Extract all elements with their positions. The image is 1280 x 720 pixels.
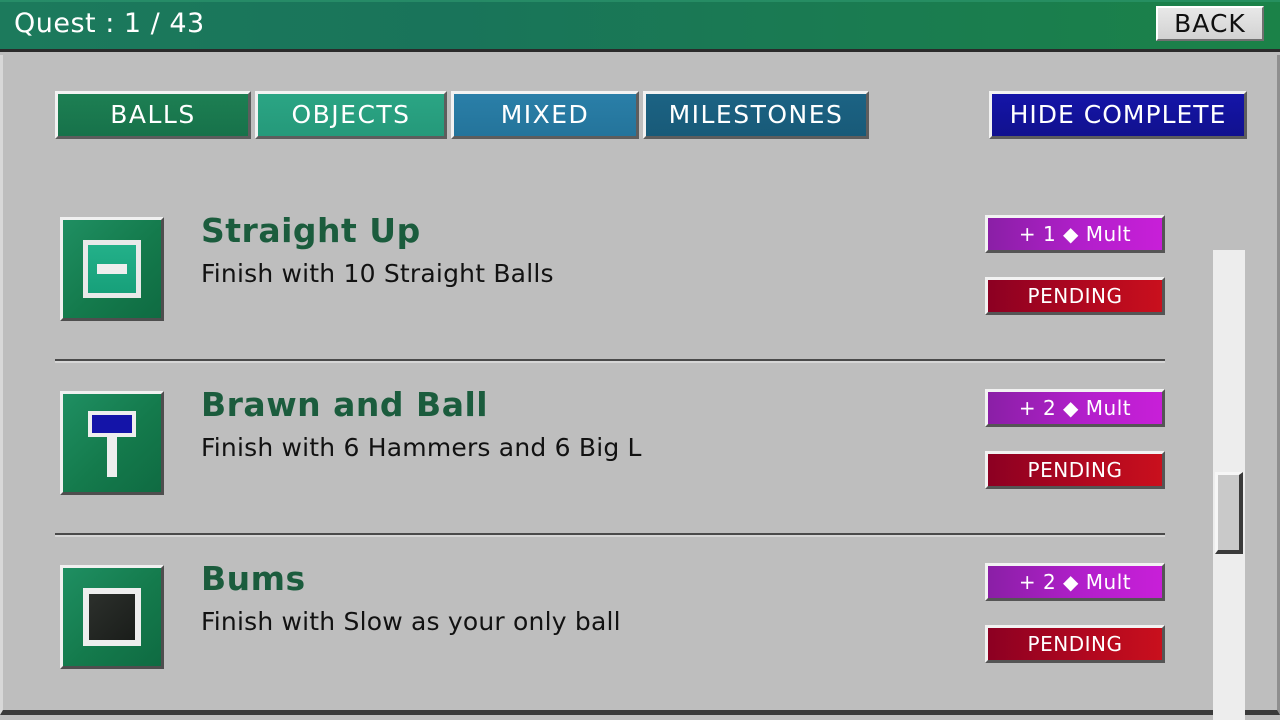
- reward-badge[interactable]: + 2 ◆ Mult: [985, 389, 1165, 427]
- category-tabs: BALLS OBJECTS MIXED MILESTONES: [55, 91, 869, 139]
- quest-icon-tile: [60, 391, 164, 495]
- status-badge[interactable]: PENDING: [985, 451, 1165, 489]
- quest-row[interactable]: Straight Up Finish with 10 Straight Ball…: [3, 185, 1203, 359]
- tab-milestones[interactable]: MILESTONES: [643, 91, 869, 139]
- hammer-icon: [82, 409, 142, 477]
- quest-list: Straight Up Finish with 10 Straight Ball…: [3, 185, 1203, 710]
- scrollbar-thumb[interactable]: [1215, 472, 1243, 554]
- quest-icon-tile: [60, 565, 164, 669]
- quest-row[interactable]: Brawn and Ball Finish with 6 Hammers and…: [3, 359, 1203, 533]
- scrollbar-track[interactable]: [1213, 250, 1245, 720]
- quest-screen: Quest : 1 / 43 BACK BALLS OBJECTS MIXED …: [0, 0, 1280, 720]
- quest-icon-tile: [60, 217, 164, 321]
- slow-ball-icon: [83, 588, 141, 646]
- header-bar: Quest : 1 / 43 BACK: [0, 0, 1280, 52]
- tab-balls[interactable]: BALLS: [55, 91, 251, 139]
- reward-badge[interactable]: + 2 ◆ Mult: [985, 563, 1165, 601]
- quest-title: Brawn and Ball: [201, 385, 961, 425]
- quest-title: Bums: [201, 559, 961, 599]
- quest-description: Finish with Slow as your only ball: [201, 607, 961, 637]
- quest-row[interactable]: Bums Finish with Slow as your only ball …: [3, 533, 1203, 707]
- content-panel: BALLS OBJECTS MIXED MILESTONES HIDE COMP…: [0, 55, 1280, 715]
- quest-description: Finish with 10 Straight Balls: [201, 259, 961, 289]
- row-separator: [55, 359, 1165, 361]
- tab-mixed[interactable]: MIXED: [451, 91, 639, 139]
- quest-text: Straight Up Finish with 10 Straight Ball…: [201, 211, 961, 289]
- quest-text: Bums Finish with Slow as your only ball: [201, 559, 961, 637]
- page-title: Quest : 1 / 43: [14, 8, 205, 39]
- status-badge[interactable]: PENDING: [985, 277, 1165, 315]
- tab-objects[interactable]: OBJECTS: [255, 91, 447, 139]
- quest-description: Finish with 6 Hammers and 6 Big L: [201, 433, 961, 463]
- row-separator: [55, 533, 1165, 535]
- hide-complete-button[interactable]: HIDE COMPLETE: [989, 91, 1247, 139]
- back-button[interactable]: BACK: [1156, 6, 1264, 41]
- quest-title: Straight Up: [201, 211, 961, 251]
- status-badge[interactable]: PENDING: [985, 625, 1165, 663]
- quest-text: Brawn and Ball Finish with 6 Hammers and…: [201, 385, 961, 463]
- reward-badge[interactable]: + 1 ◆ Mult: [985, 215, 1165, 253]
- straight-ball-icon: [83, 240, 141, 298]
